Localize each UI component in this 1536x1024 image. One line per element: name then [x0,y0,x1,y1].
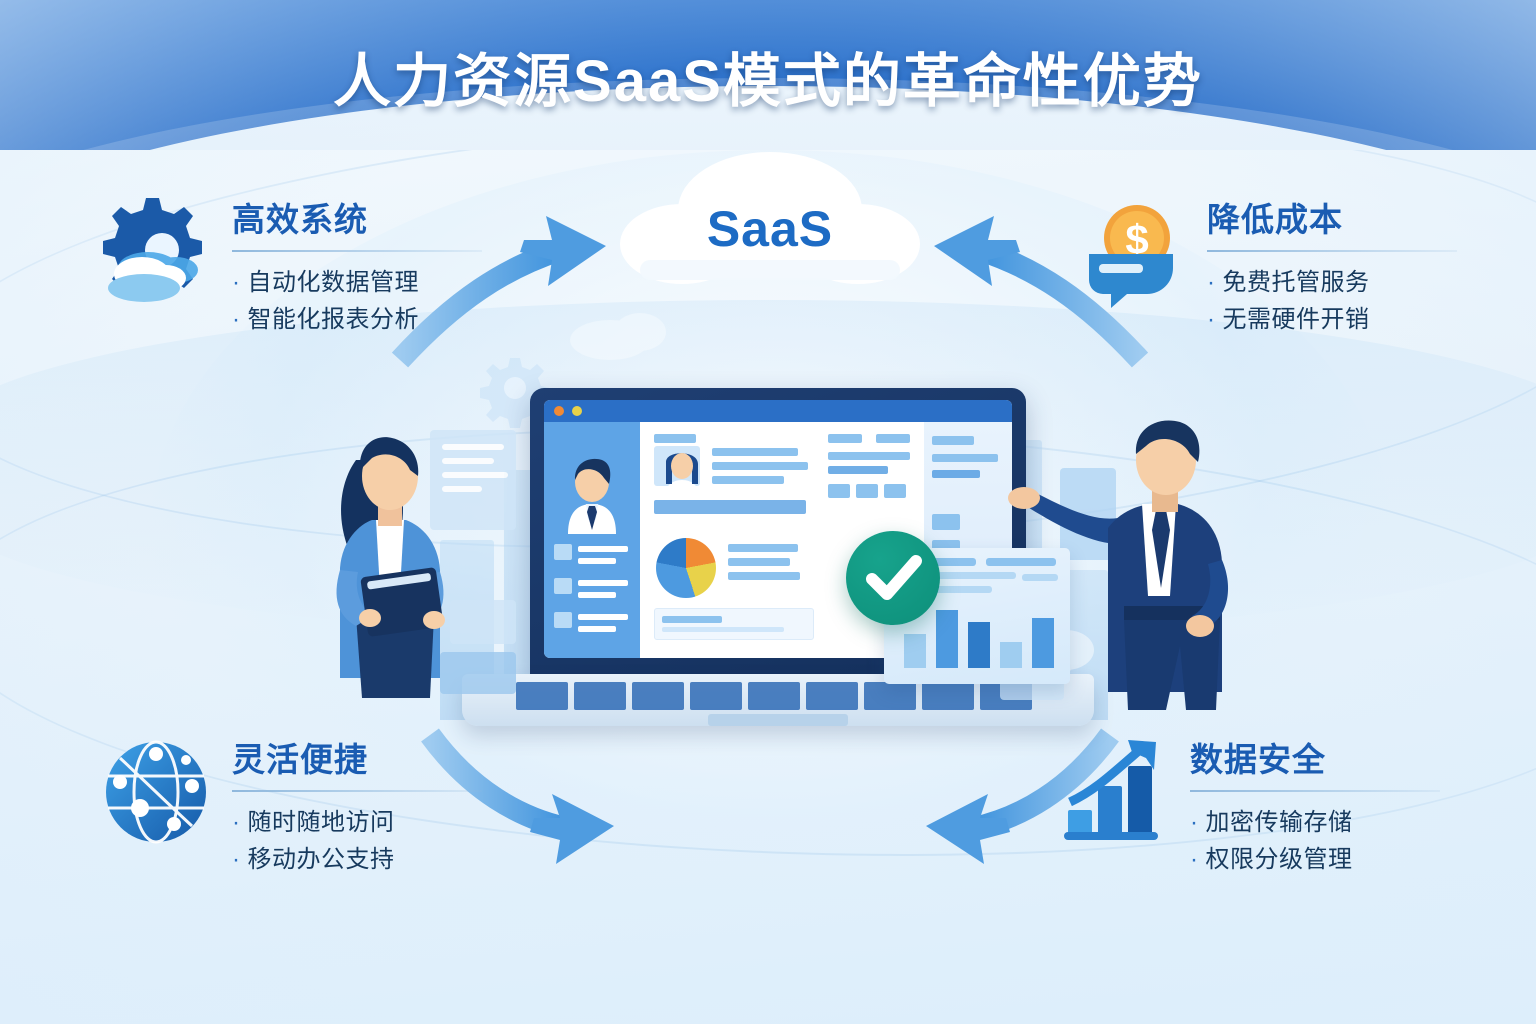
page-title: 人力资源SaaS模式的革命性优势 [0,34,1536,118]
quadrant-flexible-item-1: ·随时随地访问 [232,804,484,841]
quadrant-cost-item-1: ·免费托管服务 [1207,264,1459,301]
screen-sidebar [544,422,640,658]
bullet-dot: · [1190,846,1199,873]
quadrant-efficiency-item-2: ·智能化报表分析 [232,301,484,338]
item-text: 移动办公支持 [248,846,395,873]
quadrant-security-body: 数据安全 ·加密传输存储 ·权限分级管理 [1190,736,1442,879]
screen-title-bar [544,400,1012,422]
quadrant-efficiency: 高效系统 ·自动化数据管理 ·智能化报表分析 [100,196,484,339]
item-text: 随时随地访问 [248,809,395,836]
item-text: 权限分级管理 [1206,846,1353,873]
item-text: 智能化报表分析 [248,306,420,333]
window-dot-yellow [572,406,582,416]
quadrant-cost: $ 降低成本 ·免费托管服务 ·无需硬件开销 [1075,196,1459,339]
bullet-dot: · [232,269,241,296]
item-text: 无需硬件开销 [1223,306,1370,333]
quadrant-divider [232,250,482,252]
quadrant-divider [1207,250,1457,252]
quadrant-security-item-1: ·加密传输存储 [1190,804,1442,841]
window-dot-orange [554,406,564,416]
quadrant-cost-body: 降低成本 ·免费托管服务 ·无需硬件开销 [1207,196,1459,339]
bullet-dot: · [1207,269,1216,296]
quadrant-cost-item-2: ·无需硬件开销 [1207,301,1459,338]
infographic-canvas: 人力资源SaaS模式的革命性优势 [0,0,1536,1024]
item-text: 加密传输存储 [1206,809,1353,836]
businesswoman-with-tablet [300,420,520,720]
check-icon [846,531,940,625]
quadrant-flexible: 灵活便捷 ·随时随地访问 ·移动办公支持 [100,736,484,879]
laptop-trackpad [708,714,848,726]
quadrant-flexible-item-2: ·移动办公支持 [232,841,484,878]
globe-network-icon [100,736,212,848]
bullet-dot: · [232,809,241,836]
employee-avatar-male [558,454,626,534]
quadrant-security-item-2: ·权限分级管理 [1190,841,1442,878]
quadrant-divider [232,790,482,792]
bullet-dot: · [1207,306,1216,333]
dashboard-pie-chart [656,538,716,598]
laptop-keyboard [516,682,1036,712]
quadrant-cost-title: 降低成本 [1207,202,1459,238]
bullet-dot: · [232,846,241,873]
saas-label: SaaS [600,200,940,258]
quadrant-efficiency-item-1: ·自动化数据管理 [232,264,484,301]
quadrant-security: 数据安全 ·加密传输存储 ·权限分级管理 [1058,736,1442,879]
quadrant-divider [1190,790,1440,792]
growth-chart-icon [1058,736,1170,848]
quadrant-efficiency-title: 高效系统 [232,202,484,238]
item-text: 自动化数据管理 [248,269,420,296]
quadrant-flexible-title: 灵活便捷 [232,742,484,778]
employee-avatar-female [656,448,708,500]
gear-cloud-icon [100,196,212,308]
item-text: 免费托管服务 [1223,269,1370,296]
coin-wallet-icon: $ [1075,196,1187,308]
bullet-dot: · [1190,809,1199,836]
bullet-dot: · [232,306,241,333]
saas-cloud: SaaS [600,148,940,298]
quadrant-security-title: 数据安全 [1190,742,1442,778]
quadrant-efficiency-body: 高效系统 ·自动化数据管理 ·智能化报表分析 [232,196,484,339]
quadrant-flexible-body: 灵活便捷 ·随时随地访问 ·移动办公支持 [232,736,484,879]
success-check-badge [846,531,940,625]
